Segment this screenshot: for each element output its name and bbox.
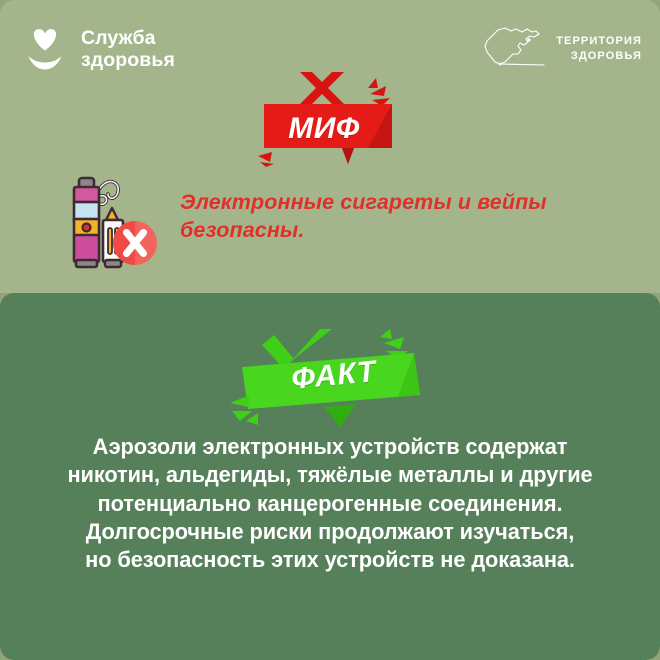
cross-x-icon: [300, 72, 344, 104]
fact-statement: Аэрозоли электронных устройств содержат …: [24, 433, 636, 575]
myth-content: Электронные сигареты и вейпы безопасны.: [62, 163, 642, 273]
myth-statement: Электронные сигареты и вейпы безопасны.: [180, 188, 547, 245]
territory-name: ТЕРРИТОРИЯ ЗДОРОВЬЯ: [556, 34, 642, 64]
fact-panel: ФАКТ Аэрозоли электронных устройств соде…: [0, 293, 660, 660]
infographic-card: Служба здоровья ТЕРРИТОРИЯ ЗДОРОВЬЯ: [0, 0, 660, 660]
vape-ecigarette-forbidden-icon: [62, 166, 162, 270]
myth-ribbon-label: МИФ: [266, 114, 382, 144]
region-map-outline-icon: [478, 24, 550, 74]
brand-name: Служба здоровья: [81, 28, 175, 70]
territory-logo: ТЕРРИТОРИЯ ЗДОРОВЬЯ: [478, 24, 642, 74]
fact-ribbon: ФАКТ: [228, 329, 443, 429]
brand-logo: Служба здоровья: [22, 26, 175, 73]
heart-smile-logo-icon: [22, 26, 68, 73]
myth-panel: Служба здоровья ТЕРРИТОРИЯ ЗДОРОВЬЯ: [0, 0, 660, 293]
myth-ribbon: МИФ: [258, 72, 408, 167]
